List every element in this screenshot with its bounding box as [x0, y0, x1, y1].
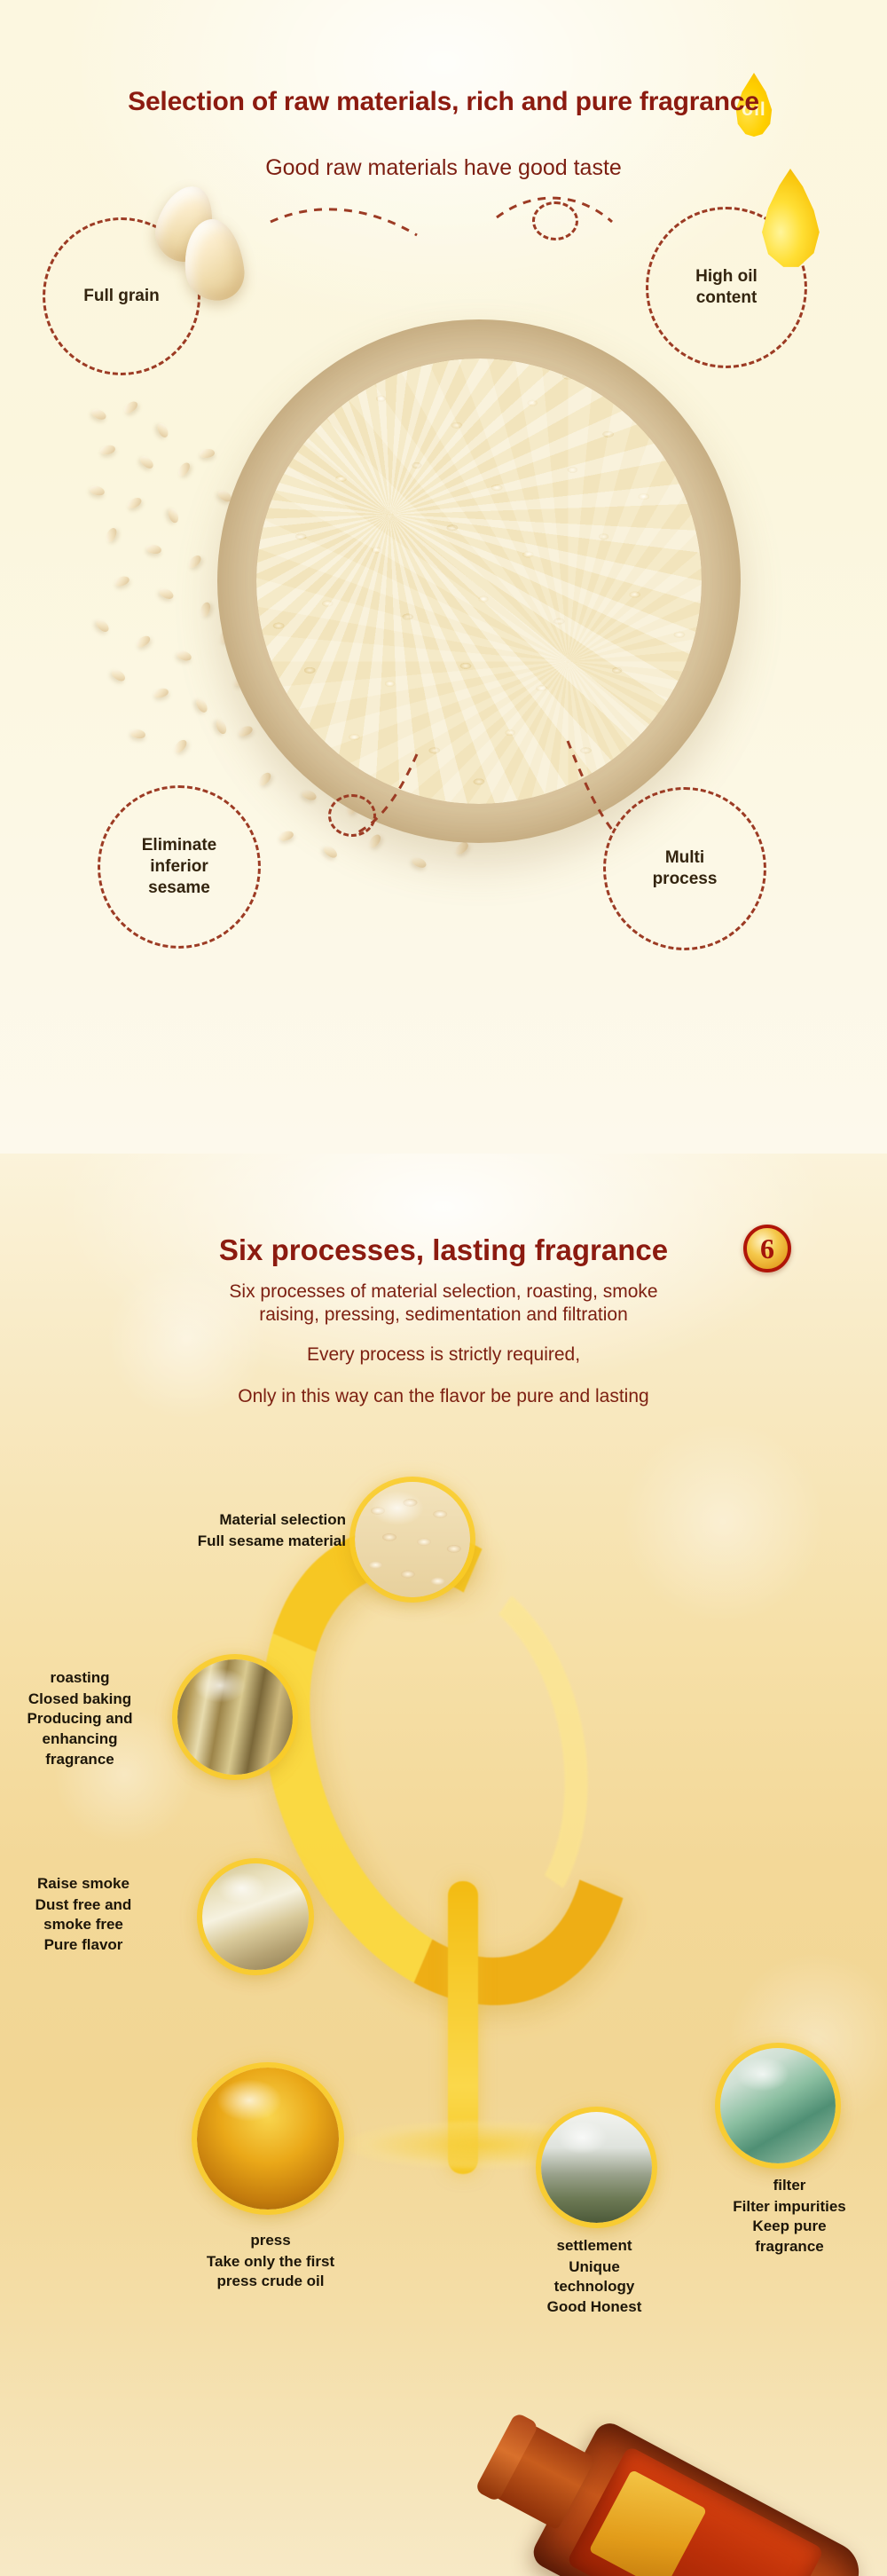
connector-ring-bottom: [328, 794, 376, 837]
step-detail-settlement-3: Good Honest: [506, 2297, 683, 2318]
step-label-press: press Take only the first press crude oi…: [186, 2229, 355, 2292]
step-name-material-selection: Material selection: [142, 1509, 346, 1532]
six-processes-section: Six processes, lasting fragrance 6 Six p…: [0, 1154, 887, 2576]
step-detail-settlement-1: Unique: [506, 2257, 683, 2278]
step-detail-material-selection-1: Full sesame material: [142, 1532, 346, 1552]
step-label-material-selection: Material selection Full sesame material: [142, 1509, 346, 1551]
callout-eliminate-line-1: Eliminate: [142, 835, 216, 856]
step-bubble-press[interactable]: [197, 2068, 339, 2210]
desc-line-2-text: raising, pressing, sedimentation and fil…: [259, 1304, 628, 1325]
step-detail-settlement-2: technology: [506, 2277, 683, 2297]
callout-multi-line-1: Multi: [653, 847, 718, 869]
step-name-settlement: settlement: [506, 2234, 683, 2257]
callout-full-grain-line-1: Full grain: [83, 286, 160, 307]
section2-desc-line-4: Only in this way can the flavor be pure …: [0, 1386, 887, 1407]
sesame-oil-bottle: [408, 2381, 870, 2576]
step-detail-roasting-2: Producing and: [0, 1709, 169, 1729]
step-detail-roasting-4: fragrance: [0, 1750, 169, 1770]
section2-desc-line-3: Every process is strictly required,: [0, 1344, 887, 1366]
callout-eliminate-inferior-sesame[interactable]: Eliminate inferior sesame: [98, 785, 261, 949]
oil-drop-large-icon: [756, 169, 825, 268]
section2-desc-line-1: Six processes of material selection, roa…: [0, 1280, 887, 1327]
six-badge: 6: [743, 1225, 791, 1272]
step-detail-raise-smoke-3: Pure flavor: [0, 1935, 172, 1956]
step-label-filter: filter Filter impurities Keep pure fragr…: [701, 2174, 878, 2257]
step-detail-press-1: Take only the first: [186, 2252, 355, 2273]
callout-eliminate-line-3: sesame: [142, 878, 216, 899]
sesame-bowl-illustration: Full grain High oil content Eliminate in…: [0, 226, 887, 963]
step-detail-roasting-3: enhancing: [0, 1729, 169, 1750]
step-detail-filter-1: Filter impurities: [701, 2197, 878, 2218]
raw-material-section: Selection of raw materials, rich and pur…: [0, 0, 887, 1154]
callout-multi-line-2: process: [653, 869, 718, 890]
step-label-roasting: roasting Closed baking Producing and enh…: [0, 1666, 169, 1770]
step-bubble-roasting[interactable]: [177, 1659, 293, 1775]
step-bubble-raise-smoke[interactable]: [202, 1863, 309, 1970]
step-name-press: press: [186, 2229, 355, 2252]
step-detail-raise-smoke-2: smoke free: [0, 1915, 172, 1935]
desc-line-1-text: Six processes of material selection, roa…: [229, 1281, 657, 1302]
oil-splash-illustration: [257, 1500, 665, 2174]
connector-ring-top: [532, 201, 578, 240]
step-detail-roasting-1: Closed baking: [0, 1690, 169, 1710]
step-bubble-filter[interactable]: [720, 2048, 836, 2163]
callout-high-oil-line-2: content: [695, 288, 757, 309]
step-name-raise-smoke: Raise smoke: [0, 1872, 172, 1895]
step-name-roasting: roasting: [0, 1666, 169, 1690]
step-detail-raise-smoke-1: Dust free and: [0, 1895, 172, 1916]
callout-high-oil-line-1: High oil: [695, 266, 757, 288]
step-bubble-material-selection[interactable]: [355, 1482, 470, 1597]
section1-title: Selection of raw materials, rich and pur…: [0, 87, 887, 117]
step-label-settlement: settlement Unique technology Good Honest: [506, 2234, 683, 2318]
step-label-raise-smoke: Raise smoke Dust free and smoke free Pur…: [0, 1872, 172, 1956]
callout-multi-process[interactable]: Multi process: [603, 787, 766, 950]
step-detail-filter-3: fragrance: [701, 2237, 878, 2257]
step-name-filter: filter: [701, 2174, 878, 2197]
step-detail-filter-2: Keep pure: [701, 2217, 878, 2237]
callout-eliminate-line-2: inferior: [142, 856, 216, 878]
step-detail-press-2: press crude oil: [186, 2272, 355, 2292]
step-bubble-settlement[interactable]: [541, 2112, 652, 2223]
